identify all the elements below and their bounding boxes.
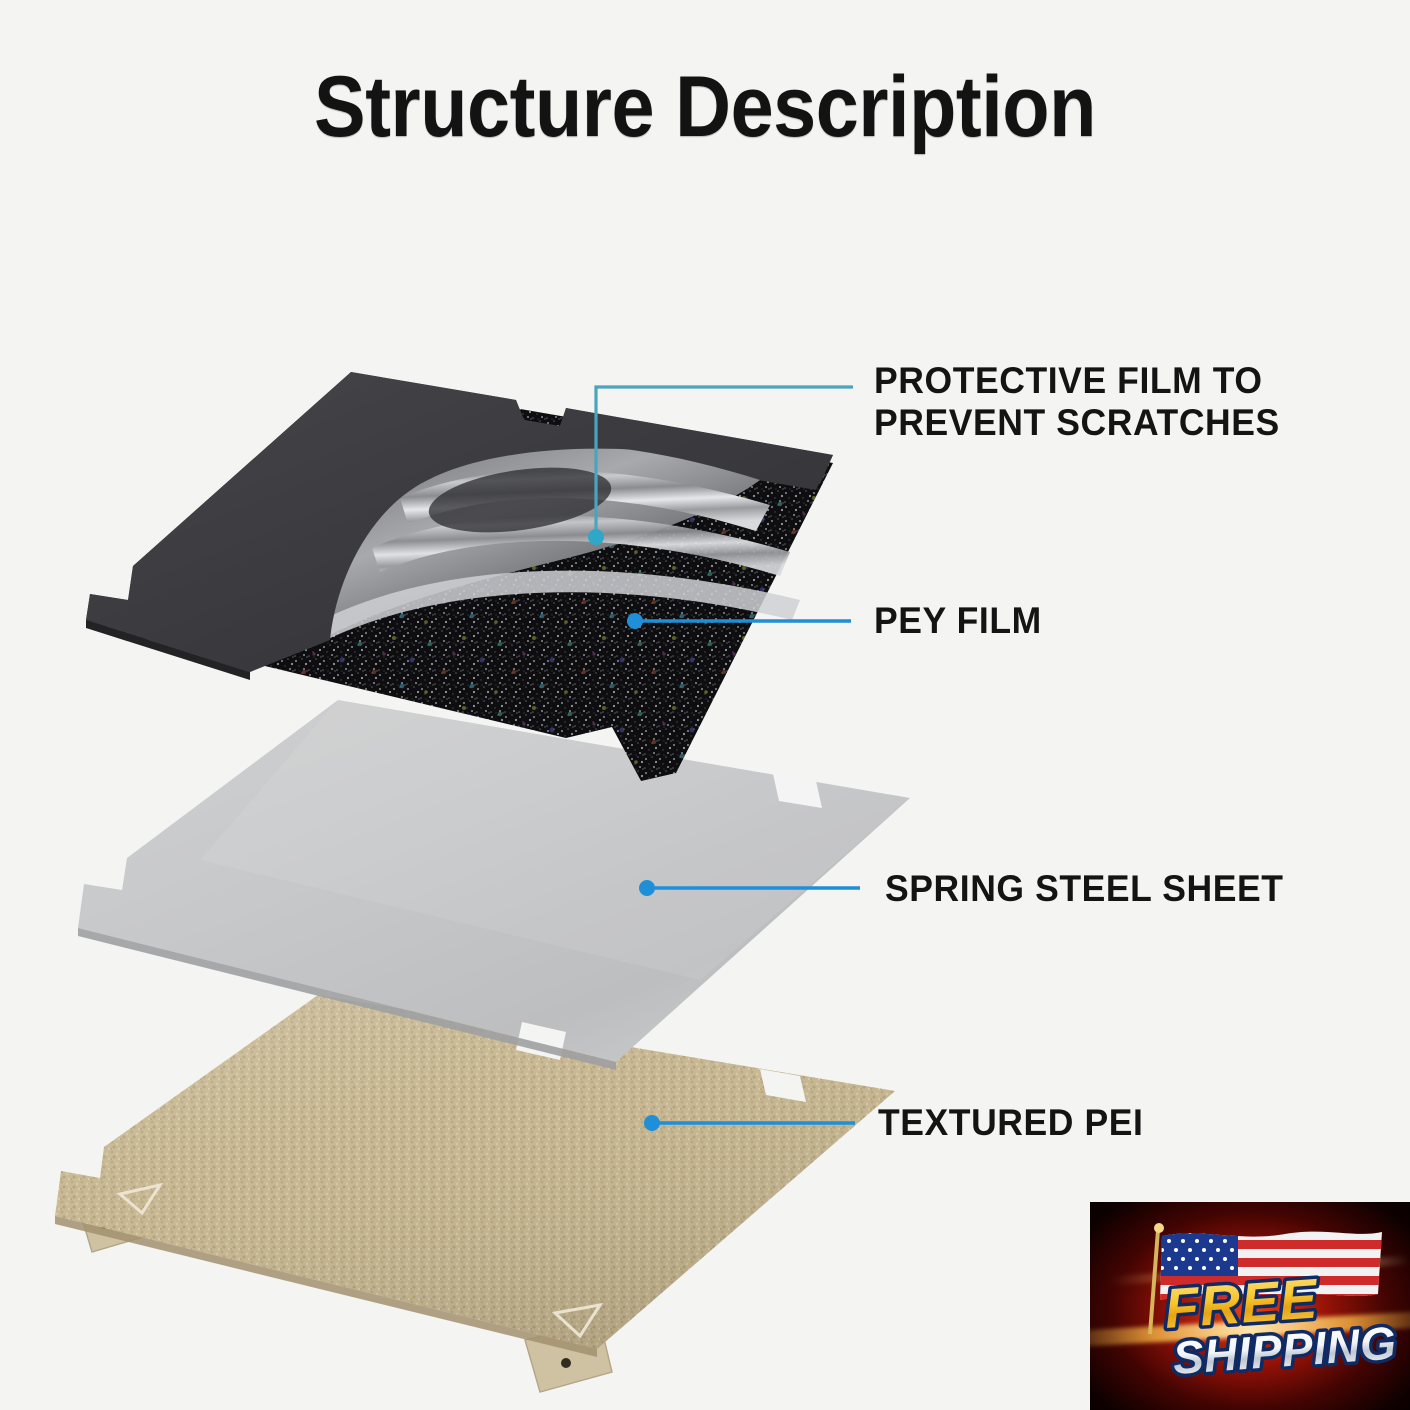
leader-dot-pei — [644, 1115, 660, 1131]
flag-pole-finial — [1154, 1223, 1164, 1233]
free-shipping-badge: FREE SHIPPING — [1090, 1202, 1410, 1410]
callout-label-protective-film: PROTECTIVE FILM TO PREVENT SCRATCHES — [874, 360, 1280, 444]
callout-label-spring-steel-sheet: SPRING STEEL SHEET — [885, 868, 1284, 910]
leader-dot-pey — [627, 613, 643, 629]
callout-label-pey-film: PEY FILM — [874, 600, 1042, 642]
badge-artwork: FREE SHIPPING — [1090, 1202, 1410, 1410]
pei-plate-shading — [55, 995, 895, 1349]
layer-spring-steel-sheet — [78, 700, 910, 1070]
diagram-page: Structure Description — [0, 0, 1410, 1410]
callout-label-textured-pei: TEXTURED PEI — [878, 1102, 1143, 1144]
pei-mount-hole-bottom — [561, 1358, 571, 1368]
leader-dot-protective — [588, 529, 604, 545]
exploded-layer-illustration — [0, 0, 1410, 1410]
layer-textured-pei — [55, 995, 895, 1392]
flag-pole — [1150, 1230, 1158, 1334]
leader-dot-spring — [639, 880, 655, 896]
